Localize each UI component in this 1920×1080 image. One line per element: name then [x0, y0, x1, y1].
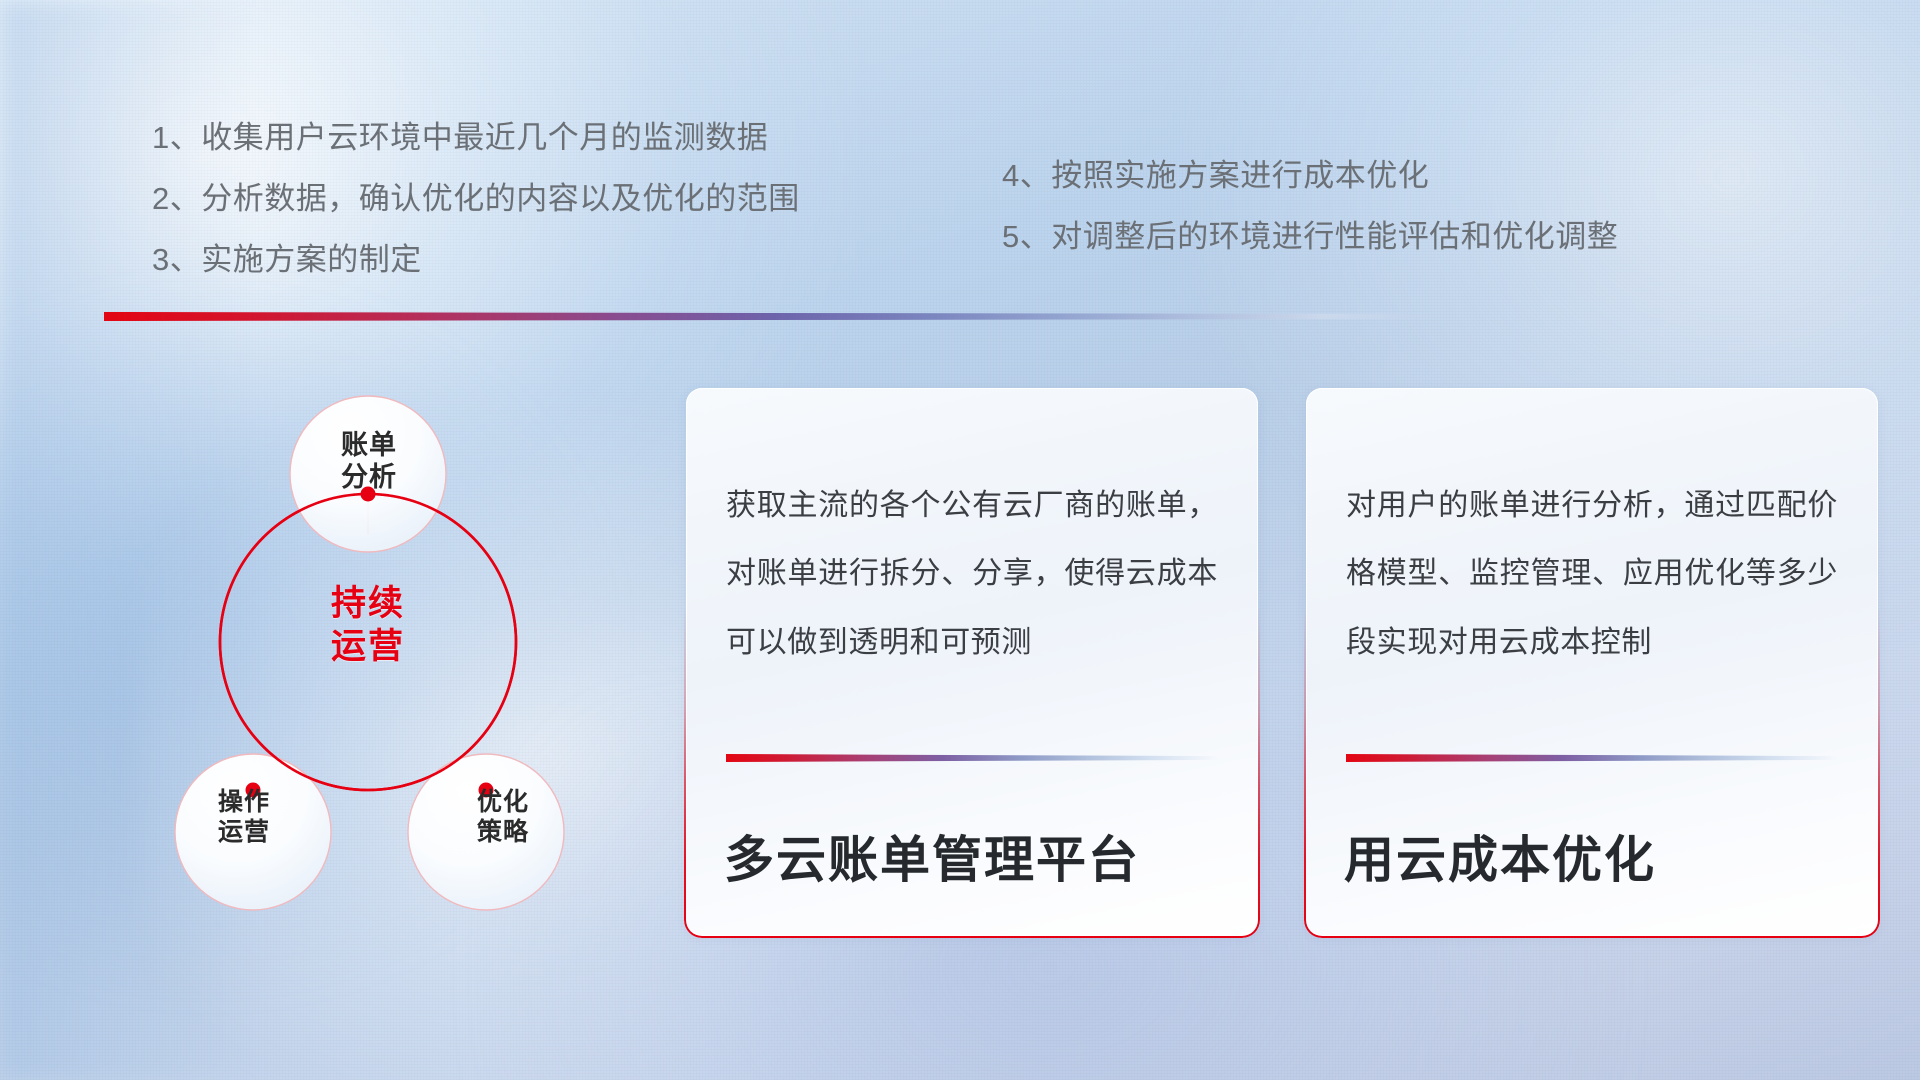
step-item-3: 3、实施方案的制定 [152, 244, 800, 275]
venn-label-operation: 操作 运营 [184, 788, 304, 847]
card-body-text: 获取主流的各个公有云厂商的账单，对账单进行拆分、分享，使得云成本可以做到透明和可… [726, 472, 1218, 677]
card-body-text: 对用户的账单进行分析，通过匹配价格模型、监控管理、应用优化等多少段实现对用云成本… [1346, 472, 1838, 677]
card-multi-cloud-bill-platform[interactable]: 获取主流的各个公有云厂商的账单，对账单进行拆分、分享，使得云成本可以做到透明和可… [686, 388, 1258, 936]
step-item-5: 5、对调整后的环境进行性能评估和优化调整 [1002, 221, 1618, 252]
steps-left-column: 1、收集用户云环境中最近几个月的监测数据 2、分析数据，确认优化的内容以及优化的… [152, 122, 800, 275]
section-divider-bar [104, 312, 1444, 321]
card-divider [1346, 754, 1838, 762]
card-divider [726, 754, 1218, 762]
continuous-operation-diagram: 账单 分析 操作 运营 优化 策略 持续 运营 [88, 352, 648, 952]
step-item-4: 4、按照实施方案进行成本优化 [1002, 160, 1618, 191]
steps-right-column: 4、按照实施方案进行成本优化 5、对调整后的环境进行性能评估和优化调整 [1002, 160, 1618, 252]
card-cloud-cost-optimization[interactable]: 对用户的账单进行分析，通过匹配价格模型、监控管理、应用优化等多少段实现对用云成本… [1306, 388, 1878, 936]
card-title: 多云账单管理平台 [724, 820, 1140, 892]
section-divider [104, 312, 1444, 321]
card-title: 用云成本优化 [1344, 820, 1656, 892]
step-item-2: 2、分析数据，确认优化的内容以及优化的范围 [152, 183, 800, 214]
slide-canvas: 1、收集用户云环境中最近几个月的监测数据 2、分析数据，确认优化的内容以及优化的… [0, 0, 1920, 1080]
venn-center-label: 持续 运营 [278, 582, 458, 669]
venn-label-bill-analysis: 账单 分析 [304, 430, 434, 494]
venn-label-optimization-policy: 优化 策略 [443, 788, 563, 847]
step-item-1: 1、收集用户云环境中最近几个月的监测数据 [152, 122, 800, 153]
